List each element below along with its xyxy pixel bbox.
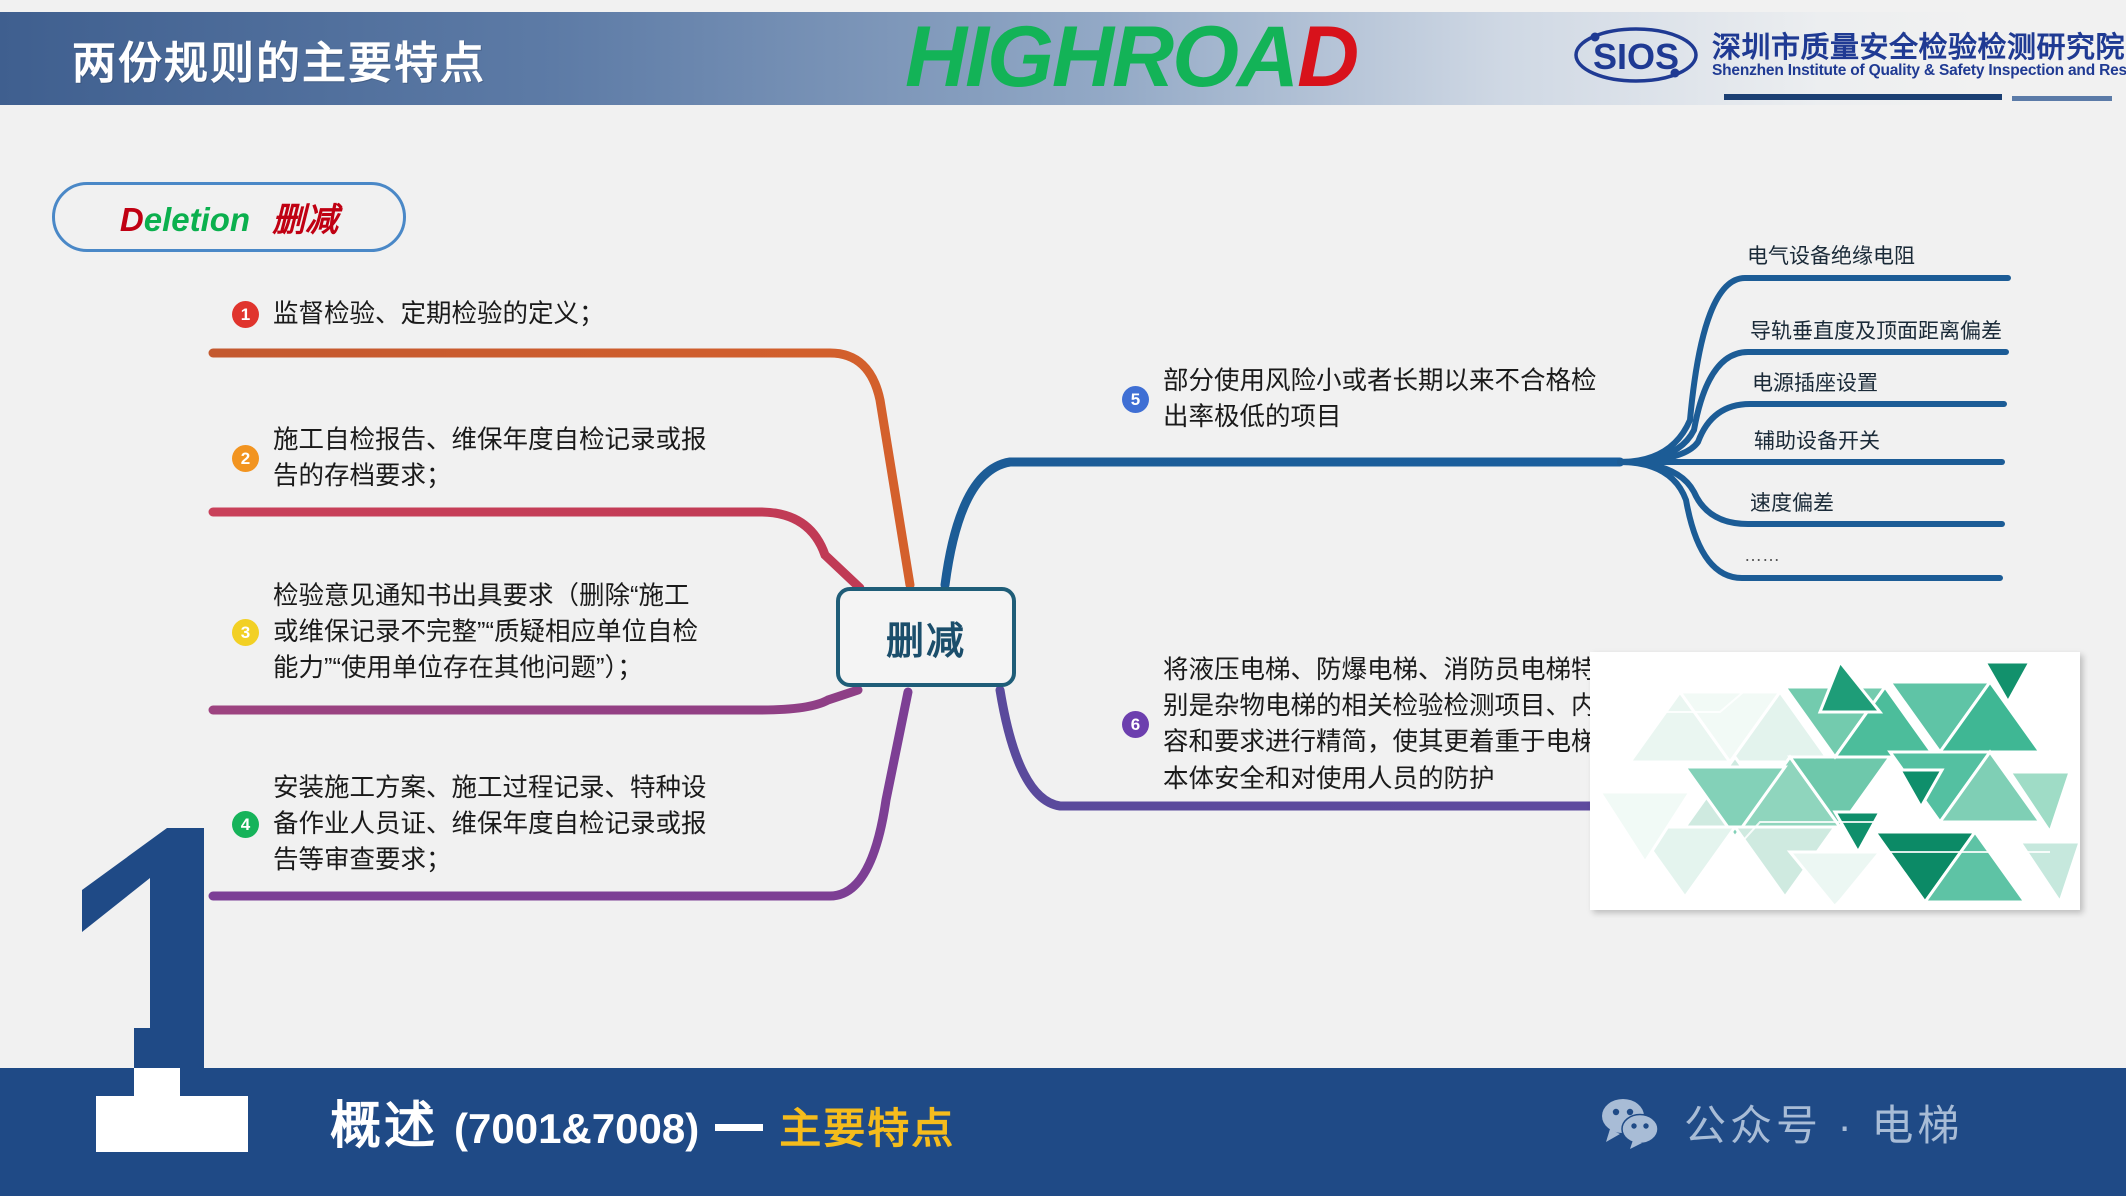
wechat-icon (1600, 1097, 1662, 1149)
footer-pedestal-base (96, 1096, 248, 1152)
branch-label-5: 部分使用风险小或者长期以来不合格检 出率极低的项目 (1163, 363, 1597, 435)
sub-item-4: 辅助设备开关 (1754, 425, 1880, 455)
triangle-pattern (1590, 652, 2080, 910)
branch-item-5: 5 部分使用风险小或者长期以来不合格检 出率极低的项目 (1122, 363, 1722, 435)
footer-tag: 主要特点 (779, 1095, 955, 1156)
footer-title-group: 概述 (7001&7008) 主要特点 (330, 1084, 955, 1158)
branch-badge-6: 6 (1122, 711, 1149, 738)
center-node-label: 删减 (886, 610, 966, 665)
branch-label-1: 监督检验、定期检验的定义； (273, 296, 605, 332)
branch-badge-3: 3 (232, 619, 259, 646)
sub-item-1: 电气设备绝缘电阻 (1747, 240, 1915, 270)
footer-code: (7001&7008) (454, 1105, 699, 1153)
branch-item-1: 1 监督检验、定期检验的定义； (232, 296, 852, 332)
footer-dash-divider (715, 1124, 763, 1131)
branch-item-2: 2 施工自检报告、维保年度自检记录或报 告的存档要求； (232, 422, 872, 494)
branch-item-4: 4 安装施工方案、施工过程记录、特种设 备作业人员证、维保年度自检记录或报 告等… (232, 770, 872, 879)
sub-item-2: 导轨垂直度及顶面距离偏差 (1750, 315, 2002, 345)
branch-label-3: 检验意见通知书出具要求（删除“施工 或维保记录不完整”“质疑相应单位自检 能力”… (273, 578, 698, 687)
branch-label-4: 安装施工方案、施工过程记录、特种设 备作业人员证、维保年度自检记录或报 告等审查… (273, 770, 707, 879)
sub-item-3: 电源插座设置 (1752, 367, 1878, 397)
footer-pedestal-stem (134, 1068, 180, 1098)
wechat-watermark: 公众号 · 电梯 (1600, 1092, 1963, 1153)
sub-item-5: 速度偏差 (1750, 487, 1834, 517)
footer-title-cn: 概述 (330, 1084, 438, 1158)
branch-badge-1: 1 (232, 301, 259, 328)
branch-item-3: 3 检验意见通知书出具要求（删除“施工 或维保记录不完整”“质疑相应单位自检 能… (232, 578, 872, 687)
branch-label-2: 施工自检报告、维保年度自检记录或报 告的存档要求； (273, 422, 707, 494)
slide-root: 两份规则的主要特点 HIGHROAD SIOS 深圳市质量安全检验检测研究院 S… (0, 0, 2126, 1196)
branch-badge-5: 5 (1122, 386, 1149, 413)
branch-label-6: 将液压电梯、防爆电梯、消防员电梯特 别是杂物电梯的相关检验检测项目、内 容和要求… (1163, 652, 1597, 797)
sub-item-6: …… (1744, 545, 1780, 566)
branch-badge-2: 2 (232, 445, 259, 472)
decorative-triangles-image (1590, 652, 2080, 910)
wechat-label: 公众号 · 电梯 (1684, 1092, 1963, 1153)
footer-stem (134, 1028, 180, 1072)
